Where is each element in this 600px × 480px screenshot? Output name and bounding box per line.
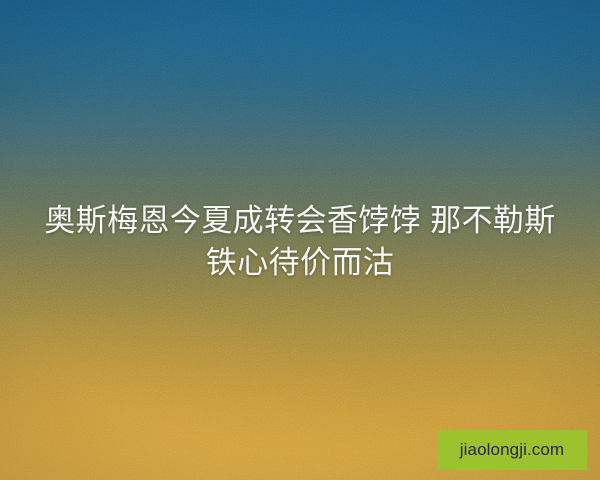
watermark-badge: jiaolongji.com	[437, 430, 587, 470]
headline-text: 奥斯梅恩今夏成转会香饽饽 那不勒斯铁心待价而沽	[34, 200, 566, 284]
article-thumbnail-card: 奥斯梅恩今夏成转会香饽饽 那不勒斯铁心待价而沽 jiaolongji.com	[0, 0, 600, 480]
watermark-site-label: jiaolongji.com	[460, 440, 564, 460]
